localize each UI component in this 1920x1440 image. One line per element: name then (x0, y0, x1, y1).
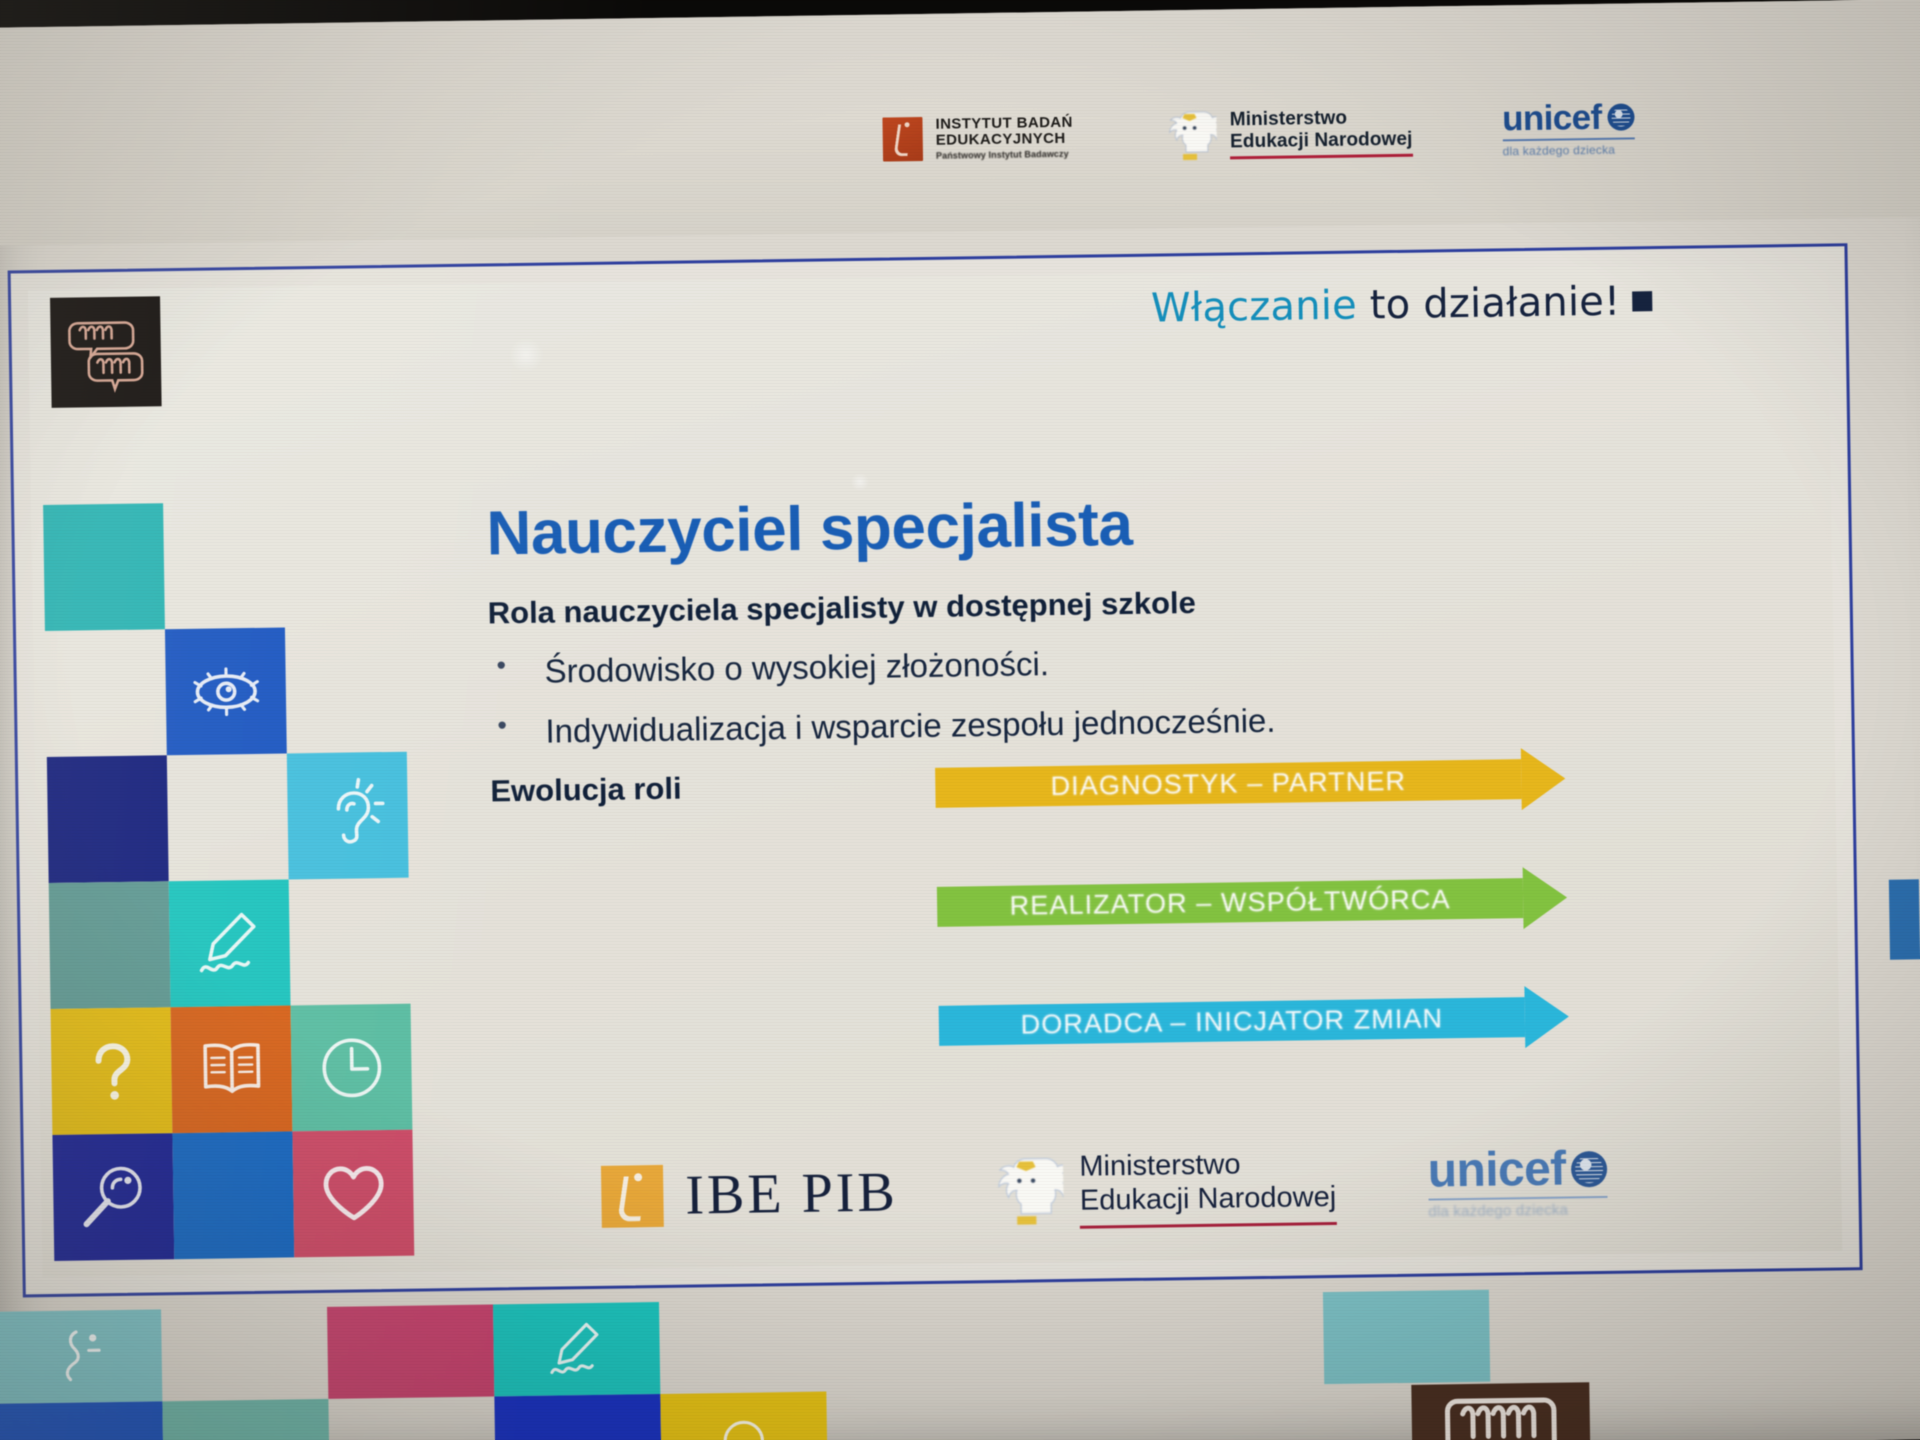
mosaic-tile (327, 1304, 494, 1398)
mosaic-tile (162, 1399, 329, 1440)
mosaic-tile (47, 755, 169, 883)
kicker-part1: Włączanie (1151, 283, 1357, 332)
mosaic-tile (328, 1396, 495, 1440)
arrow-label: DIAGNOSTYK – PARTNER (1050, 765, 1406, 801)
arrow-head-icon (1524, 985, 1569, 1048)
mosaic-tile-heart (292, 1130, 414, 1258)
mosaic-tile (1158, 1384, 1325, 1440)
footer-logo-men: Ministerstwo Edukacji Narodowej (989, 1146, 1336, 1231)
page-title: Nauczyciel specjalista (486, 479, 1827, 570)
arrow-head-icon (1521, 748, 1566, 811)
book-icon (192, 1028, 270, 1110)
ibe-mark-icon (882, 117, 923, 162)
mosaic-tile-squiggle (0, 1309, 162, 1403)
pencil-icon (191, 902, 269, 984)
header-logo-ibe: INSTYTUT BADAŃ EDUKACYJNYCH Państwowy In… (882, 115, 1073, 162)
unicef-rule (1502, 138, 1634, 142)
unicef-globe-icon (1607, 103, 1634, 130)
slide-kicker: Włączanie to działanie! (1151, 278, 1653, 331)
mosaic-tile-magnifier (52, 1133, 174, 1261)
decorative-mosaic-grid (43, 500, 414, 1265)
unicef-tagline: dla każdego dziecka (1503, 143, 1636, 159)
mosaic-tile (1157, 1292, 1324, 1386)
mosaic-tile (289, 878, 411, 1006)
slide-canvas: Włączanie to działanie! Nauczyciel specj… (28, 264, 1842, 1278)
clock-icon (312, 1027, 390, 1109)
men-line2: Edukacji Narodowej (1230, 128, 1413, 152)
mosaic-tile (659, 1300, 826, 1394)
footer-logo-ibe-pib: IBE PIB (601, 1160, 898, 1228)
arrow-realizator-wspoltworca: REALIZATOR – WSPÓŁTWÓRCA (937, 866, 1568, 937)
men-rule (1230, 153, 1412, 159)
mosaic-tile (1656, 1377, 1823, 1440)
mosaic-tile (1655, 1285, 1822, 1379)
mosaic-tile (283, 500, 405, 628)
header-logo-unicef: unicef dla każdego dziecka (1502, 100, 1635, 158)
arrow-doradca-inicjator-zmian: DORADCA – INICJATOR ZMIAN (938, 985, 1569, 1056)
ear-icon (309, 775, 387, 857)
bullet-list: Środowisko o wysokiej złożoności. Indywi… (488, 634, 1829, 752)
mosaic-tile (0, 1401, 164, 1440)
background-mosaic-strip (0, 1282, 1920, 1440)
mosaic-tile (826, 1389, 993, 1440)
mosaic-tile (991, 1295, 1158, 1389)
mosaic-tile (43, 503, 165, 631)
mosaic-tile (1489, 1287, 1656, 1381)
ibe-pib-mark-icon (601, 1165, 664, 1228)
list-item: Środowisko o wysokiej złożoności. (488, 634, 1828, 692)
glare-spot (509, 338, 544, 373)
monitor-screen: INSTYTUT BADAŃ EDUKACYJNYCH Państwowy In… (0, 0, 1920, 1440)
ibe-line3: Państwowy Instytut Badawczy (936, 149, 1073, 161)
unicef-globe-icon (1571, 1151, 1608, 1188)
circle-icon (684, 1405, 804, 1440)
mosaic-tile-circle (660, 1392, 827, 1440)
polish-eagle-icon (989, 1150, 1064, 1231)
mosaic-tile-clock (291, 1004, 413, 1132)
arrow-diagnostyk-partner: DIAGNOSTYK – PARTNER (935, 748, 1566, 819)
mosaic-tile-eye (165, 627, 287, 755)
mosaic-tile-question (51, 1007, 173, 1135)
men-line1: Ministerstwo (1230, 107, 1413, 131)
mosaic-tile (1323, 1290, 1490, 1384)
footer-logo-unicef: unicef dla każdego dziecka (1427, 1146, 1608, 1220)
mosaic-tile (163, 501, 285, 629)
arrow-label: REALIZATOR – WSPÓŁTWÓRCA (1009, 884, 1450, 922)
arrow-head-icon (1523, 866, 1568, 929)
evolution-arrows: DIAGNOSTYK – PARTNER REALIZATOR – WSPÓŁT… (935, 748, 1570, 1114)
question-icon (72, 1030, 150, 1112)
ibe-line2: EDUKACYJNYCH (936, 130, 1073, 148)
polish-eagle-icon (1163, 106, 1218, 165)
header-logo-men: Ministerstwo Edukacji Narodowej (1163, 103, 1413, 165)
squiggle-icon (18, 1323, 138, 1391)
footer-men-line1: Ministerstwo (1079, 1147, 1336, 1184)
mosaic-tile (1822, 1374, 1920, 1440)
photo-of-screen: INSTYTUT BADAŃ EDUKACYJNYCH Państwowy In… (0, 0, 1920, 1440)
speech-bubbles-logo (50, 296, 162, 408)
header-logos: INSTYTUT BADAŃ EDUKACYJNYCH Państwowy In… (882, 99, 1635, 168)
magnifier-icon (74, 1156, 152, 1238)
mosaic-tile-pencil (169, 879, 291, 1007)
background-speech-bubble-logo (1411, 1382, 1590, 1440)
mosaic-tile (825, 1297, 992, 1391)
slide-subheading: Rola nauczyciela specjalisty w dostępnej… (487, 576, 1827, 632)
kicker-square-icon (1632, 291, 1652, 311)
second-monitor-highlight (1889, 879, 1920, 959)
unicef-wordmark: unicef (1502, 101, 1602, 136)
mosaic-tile (45, 629, 167, 757)
presentation-slide-frame[interactable]: Włączanie to działanie! Nauczyciel specj… (8, 243, 1863, 1297)
mosaic-tile (161, 1307, 328, 1401)
heart-icon (314, 1153, 392, 1235)
mosaic-tile (172, 1131, 294, 1259)
footer-men-line2: Edukacji Narodowej (1080, 1180, 1337, 1217)
kicker-part2: to działanie! (1357, 279, 1621, 329)
mosaic-tile (992, 1387, 1159, 1440)
glare-spot (851, 473, 869, 491)
footer-unicef-wordmark: unicef (1427, 1147, 1565, 1195)
list-item: Indywidualizacja i wsparcie zespołu jedn… (489, 694, 1829, 752)
mosaic-tile (285, 626, 407, 754)
slide-footer-logos: IBE PIB M (601, 1129, 1802, 1247)
mosaic-tile-ear (287, 752, 409, 880)
footer-unicef-tagline: dla każdego dziecka (1428, 1201, 1608, 1221)
mosaic-tile (1821, 1282, 1920, 1376)
eye-icon (187, 650, 265, 732)
arrow-label: DORADCA – INICJATOR ZMIAN (1020, 1003, 1443, 1040)
mosaic-tile (49, 881, 171, 1009)
ibe-pib-wordmark: IBE PIB (685, 1160, 898, 1227)
pencil-icon (516, 1315, 636, 1383)
mosaic-tile-pencil (493, 1302, 660, 1396)
footer-men-rule (1080, 1222, 1336, 1229)
header-logo-band: INSTYTUT BADAŃ EDUKACYJNYCH Państwowy In… (0, 0, 1920, 246)
mosaic-tile (494, 1394, 661, 1440)
mosaic-tile-book (171, 1005, 293, 1133)
mosaic-tile (167, 753, 289, 881)
